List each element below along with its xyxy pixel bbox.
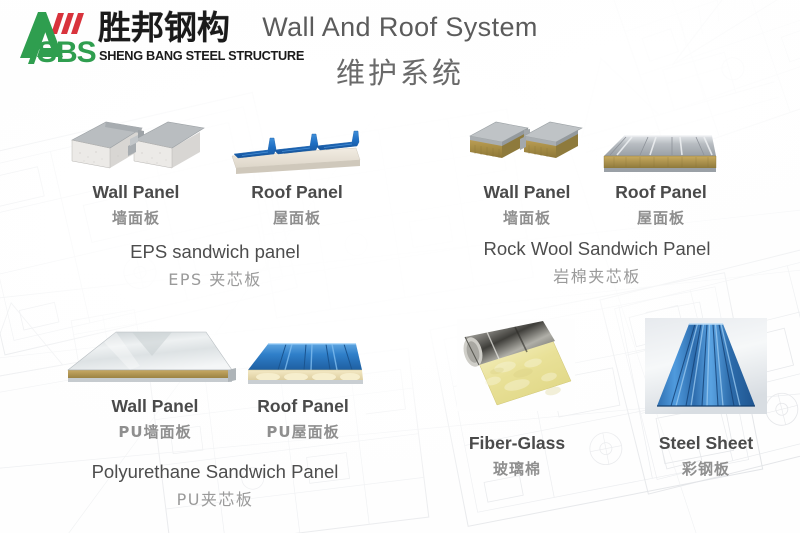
rockwool-roof-panel-label-cn: 屋面板 <box>600 207 722 228</box>
pu-wall-panel-label-en: Wall Panel <box>75 396 235 417</box>
pu-roof-panel-label-en: Roof Panel <box>238 396 368 417</box>
pu-group-label-en: Polyurethane Sandwich Panel <box>50 461 380 483</box>
eps-roof-panel-label-en: Roof Panel <box>228 182 366 203</box>
poster-root: SBS 胜邦钢构 SHENG BANG STEEL STRUCTURE Wall… <box>0 0 800 533</box>
page-title-en: Wall And Roof System <box>0 12 800 43</box>
rockwool-group-label-en: Rock Wool Sandwich Panel <box>452 238 742 260</box>
eps-group-label-en: EPS sandwich panel <box>60 241 370 263</box>
rockwool-group-label-cn: 岩棉夹芯板 <box>452 263 742 287</box>
pu-wall-panel-image <box>60 326 246 388</box>
steel-sheet-image <box>645 318 767 414</box>
rockwool-wall-panel-label-cn: 墙面板 <box>466 207 588 228</box>
pu-wall-panel-label-cn: PU墙面板 <box>75 421 235 442</box>
fiber-glass-image <box>457 319 575 411</box>
eps-roof-panel-image <box>228 118 366 184</box>
eps-wall-panel-label-en: Wall Panel <box>66 182 206 203</box>
eps-roof-panel-label-cn: 屋面板 <box>228 207 366 228</box>
pu-roof-panel-label-cn: PU屋面板 <box>238 421 368 442</box>
steel-sheet-label-en: Steel Sheet <box>636 433 776 454</box>
rockwool-roof-panel-label-en: Roof Panel <box>600 182 722 203</box>
pu-roof-panel-image <box>238 330 368 390</box>
eps-wall-panel-image <box>66 112 206 184</box>
fiber-glass-label-en: Fiber-Glass <box>447 433 587 454</box>
eps-group-label-cn: EPS 夹芯板 <box>60 266 370 290</box>
steel-sheet-label-cn: 彩钢板 <box>636 458 776 479</box>
rockwool-wall-panel-image <box>466 114 588 184</box>
page-title-cn: 维护系统 <box>0 50 800 92</box>
pu-group-label-cn: PU夹芯板 <box>50 486 380 510</box>
fiber-glass-label-cn: 玻璃棉 <box>447 458 587 479</box>
rockwool-wall-panel-label-en: Wall Panel <box>466 182 588 203</box>
eps-wall-panel-label-cn: 墙面板 <box>66 207 206 228</box>
rockwool-roof-panel-image <box>600 116 722 184</box>
